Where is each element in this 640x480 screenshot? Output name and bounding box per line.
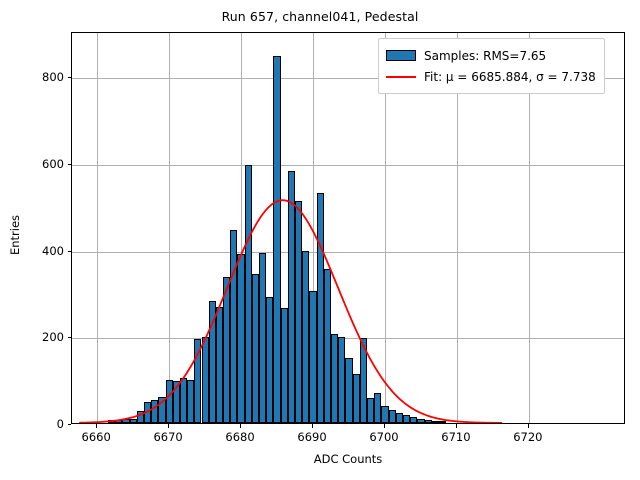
histogram-bar	[259, 253, 266, 423]
x-tick-mark	[384, 424, 385, 428]
y-tick-label: 600	[10, 157, 64, 171]
histogram-bar	[302, 251, 309, 423]
x-axis-label: ADC Counts	[71, 452, 625, 466]
histogram-bar	[439, 421, 446, 423]
histogram-bar	[180, 378, 187, 423]
gridline-horizontal	[72, 165, 624, 166]
histogram-bar	[130, 419, 137, 423]
histogram-bar	[115, 420, 122, 423]
histogram-bar	[360, 338, 367, 423]
x-tick-label: 6690	[297, 430, 326, 444]
histogram-bar	[266, 297, 273, 423]
legend-line-icon	[386, 71, 416, 82]
y-tick-mark	[68, 77, 72, 78]
histogram-bar	[432, 421, 439, 423]
histogram-bar	[295, 201, 302, 423]
x-tick-mark	[240, 424, 241, 428]
x-tick-mark	[96, 424, 97, 428]
legend-patch-icon	[386, 50, 416, 61]
x-tick-mark	[168, 424, 169, 428]
histogram-bar	[317, 193, 324, 423]
histogram-bar	[396, 413, 403, 423]
histogram-bar	[151, 400, 158, 423]
histogram-bar	[288, 171, 295, 423]
chart-legend: Samples: RMS=7.65 Fit: μ = 6685.884, σ =…	[378, 38, 605, 94]
x-tick-label: 6660	[82, 430, 111, 444]
histogram-bar	[194, 339, 201, 423]
histogram-bar	[425, 420, 432, 423]
histogram-bar	[389, 410, 396, 423]
x-tick-mark	[528, 424, 529, 428]
histogram-bar	[202, 337, 209, 423]
histogram-bar	[252, 274, 259, 423]
histogram-bar	[137, 411, 144, 423]
x-tick-mark	[456, 424, 457, 428]
histogram-bar	[108, 420, 115, 423]
legend-label-fit: Fit: μ = 6685.884, σ = 7.738	[424, 70, 596, 84]
x-tick-mark	[312, 424, 313, 428]
histogram-bar	[309, 291, 316, 423]
gridline-horizontal	[72, 252, 624, 253]
gridline-vertical	[169, 33, 170, 423]
histogram-bar	[410, 417, 417, 423]
legend-item-samples: Samples: RMS=7.65	[386, 45, 596, 66]
histogram-bar	[345, 358, 352, 423]
gridline-horizontal	[72, 338, 624, 339]
page-title: Run 657, channel041, Pedestal	[0, 9, 640, 24]
x-tick-label: 6710	[441, 430, 470, 444]
histogram-bar	[209, 301, 216, 423]
y-tick-label: 800	[10, 70, 64, 84]
y-tick-mark	[68, 251, 72, 252]
histogram-bar	[417, 419, 424, 423]
y-tick-mark	[68, 164, 72, 165]
x-tick-label: 6700	[369, 430, 398, 444]
y-tick-label: 200	[10, 330, 64, 344]
histogram-bar	[367, 398, 374, 423]
histogram-bar	[381, 406, 388, 423]
y-axis-label: Entries	[8, 215, 22, 255]
figure-canvas: Run 657, channel041, Pedestal 6660667066…	[0, 0, 640, 480]
histogram-bar	[216, 307, 223, 423]
y-tick-mark	[68, 337, 72, 338]
x-tick-label: 6720	[513, 430, 542, 444]
histogram-bar	[158, 397, 165, 423]
histogram-bar	[324, 269, 331, 423]
histogram-bar	[187, 380, 194, 423]
histogram-bar	[173, 381, 180, 423]
histogram-bar	[144, 402, 151, 423]
histogram-bar	[338, 337, 345, 423]
y-tick-label: 0	[10, 417, 64, 431]
x-tick-label: 6670	[153, 430, 182, 444]
histogram-bar	[245, 165, 252, 423]
histogram-bar	[353, 374, 360, 423]
histogram-bar	[237, 254, 244, 423]
histogram-bar	[331, 334, 338, 423]
histogram-bar	[281, 308, 288, 423]
histogram-bar	[166, 380, 173, 423]
x-tick-label: 6680	[225, 430, 254, 444]
histogram-bar	[223, 277, 230, 423]
legend-item-fit: Fit: μ = 6685.884, σ = 7.738	[386, 66, 596, 87]
histogram-bar	[374, 393, 381, 423]
histogram-bar	[273, 56, 280, 423]
legend-label-samples: Samples: RMS=7.65	[424, 49, 546, 63]
histogram-bar	[403, 415, 410, 423]
histogram-bar	[230, 230, 237, 423]
y-tick-mark	[68, 424, 72, 425]
histogram-bar	[122, 419, 129, 423]
gridline-vertical	[97, 33, 98, 423]
